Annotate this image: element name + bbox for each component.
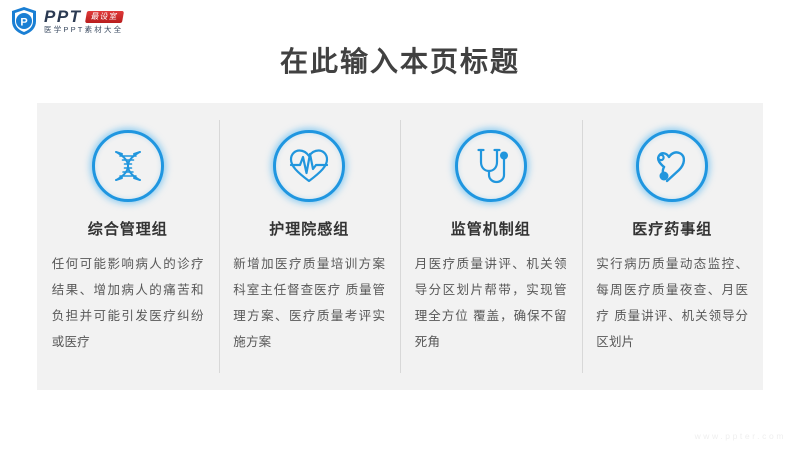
footer-watermark: www.ppter.com [695,431,786,441]
card-title: 护理院感组 [269,218,349,239]
card-title: 综合管理组 [88,218,168,239]
heart-pulse-icon [273,130,345,202]
card-body: 月医疗质量讲评、机关领导分区划片帮带，实现管理全方位 覆盖，确保不留死角 [415,251,567,355]
logo-text: PPT 最设室 医学PPT素材大全 [44,8,123,34]
logo-subtitle: 医学PPT素材大全 [44,26,123,34]
dna-helix-icon [92,130,164,202]
card-body: 任何可能影响病人的诊疗结果、增加病人的痛苦和负担并可能引发医疗纠纷或医疗 [52,251,204,355]
card-jianguan-jizhi[interactable]: 监管机制组 月医疗质量讲评、机关领导分区划片帮带，实现管理全方位 覆盖，确保不留… [400,103,582,390]
site-logo: P PPT 最设室 医学PPT素材大全 [10,6,123,36]
logo-badge: 最设室 [85,11,124,23]
page-title: 在此输入本页标题 [0,40,800,80]
card-body: 新增加医疗质量培训方案科室主任督查医疗 质量管理方案、医疗质量考评实施方案 [233,251,385,355]
shield-icon: P [10,6,38,36]
card-title: 监管机制组 [451,218,531,239]
stethoscope-icon [455,130,527,202]
content-panel: 综合管理组 任何可能影响病人的诊疗结果、增加病人的痛苦和负担并可能引发医疗纠纷或… [37,103,763,390]
card-yiliao-yaoshi[interactable]: 医疗药事组 实行病历质量动态监控、每周医疗质量夜查、月医疗 质量讲评、机关领导分… [582,103,764,390]
logo-brand: PPT [44,8,82,25]
card-body: 实行病历质量动态监控、每周医疗质量夜查、月医疗 质量讲评、机关领导分区划片 [596,251,748,355]
card-title: 医疗药事组 [632,218,712,239]
svg-text:P: P [20,17,27,29]
heart-stethoscope-icon [636,130,708,202]
card-zonghe-guanli[interactable]: 综合管理组 任何可能影响病人的诊疗结果、增加病人的痛苦和负担并可能引发医疗纠纷或… [37,103,219,390]
card-huli-yuangan[interactable]: 护理院感组 新增加医疗质量培训方案科室主任督查医疗 质量管理方案、医疗质量考评实… [219,103,401,390]
